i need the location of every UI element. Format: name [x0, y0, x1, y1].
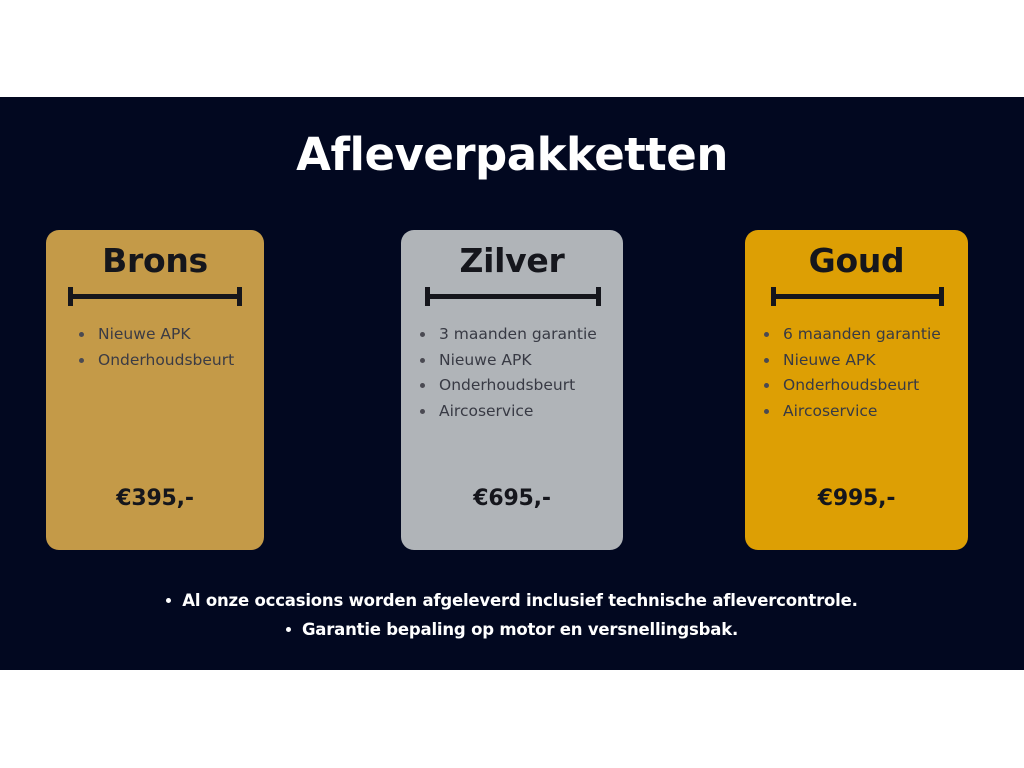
package-card-goud[interactable]: Goud 6 maanden garantie Nieuwe APK Onder…: [745, 230, 968, 550]
list-item: 6 maanden garantie: [759, 322, 960, 348]
feature-label: Onderhoudsbeurt: [98, 351, 234, 369]
feature-label: Aircoservice: [439, 402, 533, 420]
package-title-brons: Brons: [46, 242, 264, 280]
bullet-icon: [79, 332, 84, 337]
list-item: Onderhoudsbeurt: [74, 348, 254, 374]
slide-root: Afleverpakketten Brons Nieuwe APK Onderh…: [0, 0, 1024, 768]
bullet-icon: [286, 627, 291, 632]
bullet-icon: [166, 598, 171, 603]
package-price-zilver: €695,-: [401, 486, 623, 511]
feature-label: Nieuwe APK: [439, 351, 532, 369]
barbell-divider-icon: [425, 287, 601, 305]
footnotes: Al onze occasions worden afgeleverd incl…: [0, 586, 1024, 644]
bullet-icon: [764, 358, 769, 363]
package-price-brons: €395,-: [46, 486, 264, 511]
package-price-goud: €995,-: [745, 486, 968, 511]
footnote-text: Al onze occasions worden afgeleverd incl…: [182, 591, 857, 610]
package-card-zilver[interactable]: Zilver 3 maanden garantie Nieuwe APK Ond…: [401, 230, 623, 550]
feature-label: 6 maanden garantie: [783, 325, 941, 343]
list-item: Nieuwe APK: [74, 322, 254, 348]
bullet-icon: [764, 332, 769, 337]
bullet-icon: [420, 358, 425, 363]
barbell-divider-icon: [771, 287, 944, 305]
divider-cap-right: [596, 287, 601, 306]
divider-bar: [68, 294, 242, 299]
list-item: Aircoservice: [759, 399, 960, 425]
barbell-divider-icon: [68, 287, 242, 305]
feature-list-goud: 6 maanden garantie Nieuwe APK Onderhouds…: [759, 322, 960, 424]
list-item: 3 maanden garantie: [415, 322, 615, 348]
feature-list-brons: Nieuwe APK Onderhoudsbeurt: [74, 322, 254, 373]
bullet-icon: [764, 383, 769, 388]
list-item: Aircoservice: [415, 399, 615, 425]
list-item: Onderhoudsbeurt: [415, 373, 615, 399]
footnote-line: Al onze occasions worden afgeleverd incl…: [0, 586, 1024, 615]
bullet-icon: [420, 409, 425, 414]
list-item: Onderhoudsbeurt: [759, 373, 960, 399]
divider-bar: [771, 294, 944, 299]
list-item: Nieuwe APK: [415, 348, 615, 374]
package-card-brons[interactable]: Brons Nieuwe APK Onderhoudsbeurt €395,-: [46, 230, 264, 550]
page-title: Afleverpakketten: [0, 128, 1024, 181]
package-title-goud: Goud: [745, 242, 968, 280]
footnote-line: Garantie bepaling op motor en versnellin…: [0, 615, 1024, 644]
feature-label: 3 maanden garantie: [439, 325, 597, 343]
bullet-icon: [420, 383, 425, 388]
bullet-icon: [79, 358, 84, 363]
feature-label: Onderhoudsbeurt: [783, 376, 919, 394]
divider-bar: [425, 294, 601, 299]
bullet-icon: [420, 332, 425, 337]
feature-list-zilver: 3 maanden garantie Nieuwe APK Onderhouds…: [415, 322, 615, 424]
footnote-text: Garantie bepaling op motor en versnellin…: [302, 620, 738, 639]
bullet-icon: [764, 409, 769, 414]
feature-label: Nieuwe APK: [783, 351, 876, 369]
divider-cap-right: [237, 287, 242, 306]
list-item: Nieuwe APK: [759, 348, 960, 374]
dark-panel: Afleverpakketten Brons Nieuwe APK Onderh…: [0, 97, 1024, 670]
package-title-zilver: Zilver: [401, 242, 623, 280]
feature-label: Aircoservice: [783, 402, 877, 420]
divider-cap-right: [939, 287, 944, 306]
feature-label: Nieuwe APK: [98, 325, 191, 343]
feature-label: Onderhoudsbeurt: [439, 376, 575, 394]
